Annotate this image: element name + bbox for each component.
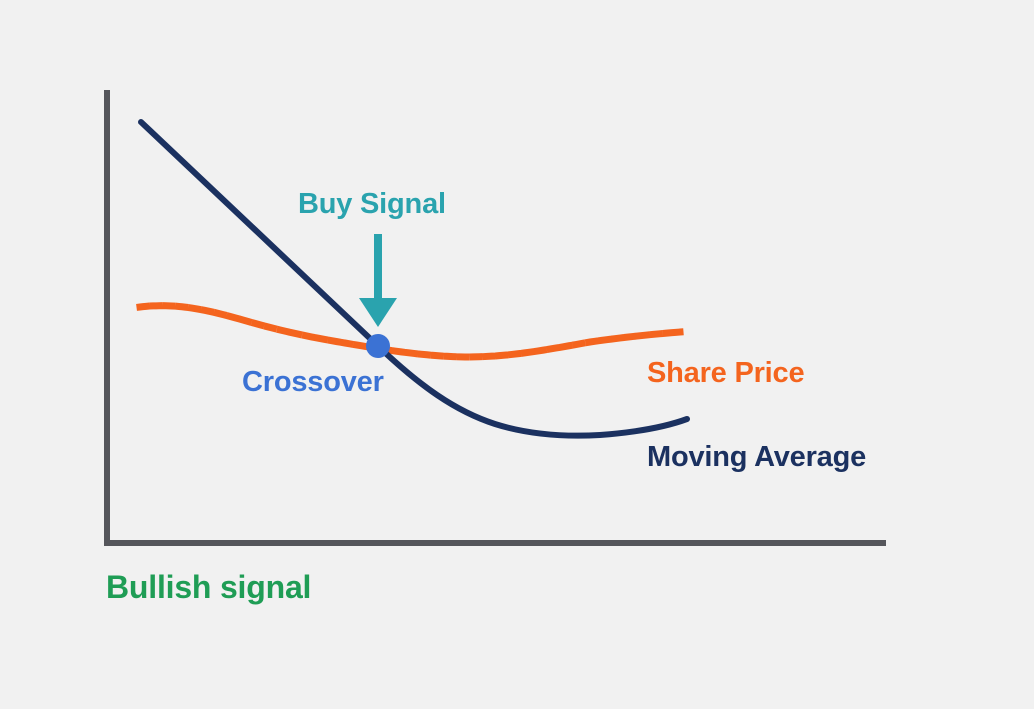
buy-signal-label: Buy Signal: [298, 188, 446, 221]
crossover-label: Crossover: [242, 366, 384, 399]
crossover-point-marker: [366, 334, 390, 358]
buy-signal-arrow-icon: [359, 234, 397, 327]
series-line-moving-average: [141, 122, 687, 436]
moving-average-series-label: Moving Average: [647, 441, 866, 474]
series-line-share-price: [140, 306, 680, 357]
chart-container: Buy Signal Crossover Share Price Moving …: [0, 0, 1034, 709]
share-price-series-label: Share Price: [647, 357, 804, 390]
bullish-signal-caption: Bullish signal: [106, 569, 311, 606]
